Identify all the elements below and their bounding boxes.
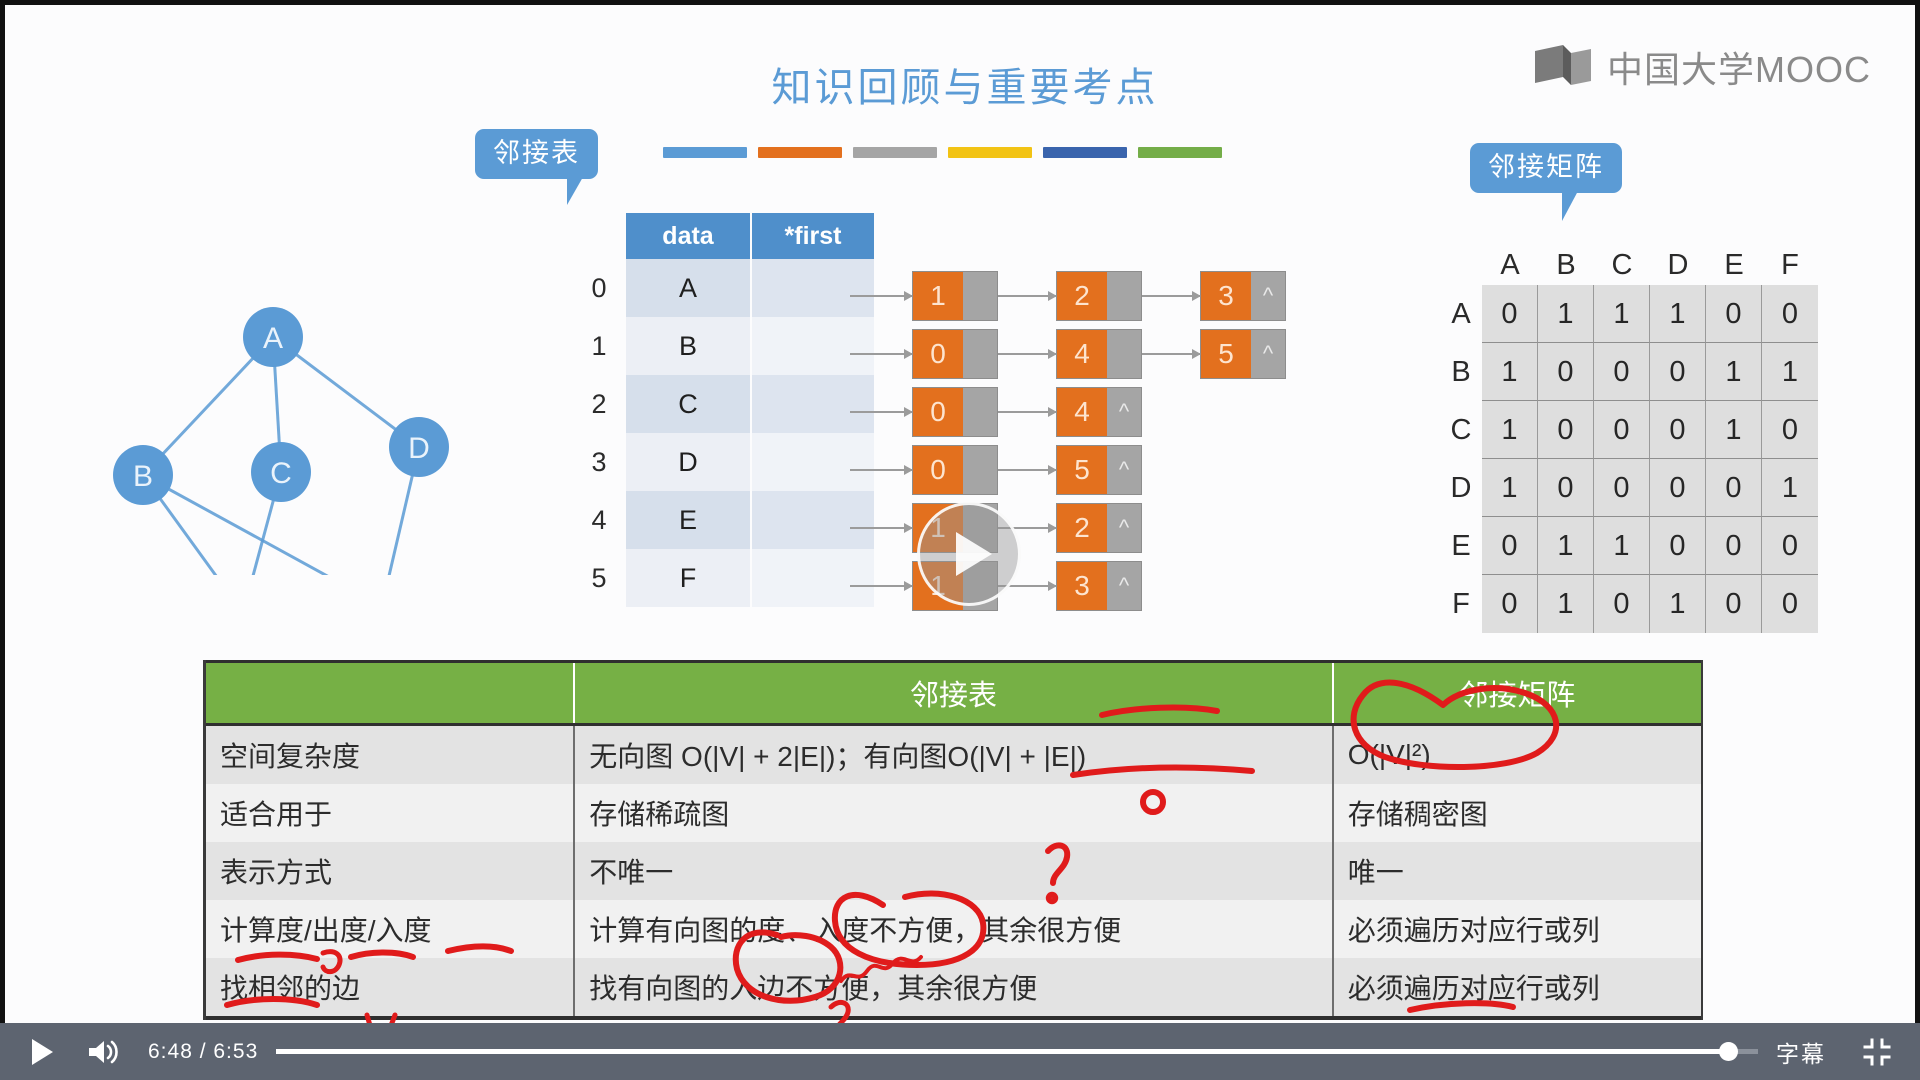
adjacency-list-header: data *first xyxy=(581,213,874,259)
column-header-data: data xyxy=(626,213,750,259)
adjacency-list-row: 1B xyxy=(581,317,874,375)
matrix-cell: 0 xyxy=(1706,285,1762,343)
matrix-cell: 0 xyxy=(1538,343,1594,401)
graph-node-C: C xyxy=(251,442,311,502)
index-spacer xyxy=(581,213,617,259)
video-player-stage: 知识回顾与重要考点 中国大学MOOC 邻接表 邻接矩阵 xyxy=(0,0,1920,1080)
node-value: 2 xyxy=(1057,272,1107,320)
adjacency-list-row: 5F xyxy=(581,549,874,607)
pointer-arrow xyxy=(998,353,1056,355)
graph-node-D: D xyxy=(389,417,449,477)
svg-text:C: C xyxy=(270,457,292,490)
node-next-pointer xyxy=(963,446,997,494)
node-value: 4 xyxy=(1057,388,1107,436)
adjacency-list-row: 0A xyxy=(581,259,874,317)
matrix-cell: 1 xyxy=(1706,401,1762,459)
callout-tail xyxy=(567,177,605,205)
list-node: 4 xyxy=(1056,329,1142,379)
pointer-arrow xyxy=(850,527,912,529)
pointer-arrow xyxy=(850,469,912,471)
node-next-pointer: ^ xyxy=(1251,330,1285,378)
list-node: 5 ^ xyxy=(1056,445,1142,495)
node-next-pointer xyxy=(1107,272,1141,320)
node-value: 5 xyxy=(1201,330,1251,378)
title-color-bar-5 xyxy=(1043,147,1127,158)
row-data-value: B xyxy=(626,317,750,375)
matrix-cell: 1 xyxy=(1706,343,1762,401)
matrix-row-header: F xyxy=(1440,575,1482,633)
node-next-pointer: ^ xyxy=(1107,562,1141,610)
comparison-row-adjacency-list: 计算有向图的度、入度不方便，其余很方便 xyxy=(573,900,1331,958)
linked-list-chain: 0 4 5 ^ xyxy=(850,325,1286,383)
node-next-pointer xyxy=(963,330,997,378)
list-node: 5 ^ xyxy=(1200,329,1286,379)
comparison-row-adjacency-list: 找有向图的入边不方便，其余很方便 xyxy=(573,958,1331,1016)
matrix-cell: 0 xyxy=(1650,401,1706,459)
comparison-table-header: 邻接表 邻接矩阵 xyxy=(206,660,1701,726)
graph-svg: A B C D E F xyxy=(45,155,485,575)
list-node: 3 ^ xyxy=(1200,271,1286,321)
matrix-row: C100010 xyxy=(1440,401,1818,459)
matrix-row-header: B xyxy=(1440,343,1482,401)
adjacency-list-row: 2C xyxy=(581,375,874,433)
matrix-cell: 0 xyxy=(1594,459,1650,517)
list-node: 2 ^ xyxy=(1056,503,1142,553)
row-data-value: C xyxy=(626,375,750,433)
row-index: 2 xyxy=(581,375,617,433)
matrix-cell: 1 xyxy=(1482,401,1538,459)
row-index: 4 xyxy=(581,491,617,549)
node-next-pointer xyxy=(963,388,997,436)
linked-list-chain: 1 2 3 ^ xyxy=(850,267,1286,325)
graph-node-B: B xyxy=(113,445,173,505)
list-node: 0 xyxy=(912,445,998,495)
comparison-header-adjacency-matrix: 邻接矩阵 xyxy=(1332,663,1701,723)
list-node: 0 xyxy=(912,387,998,437)
volume-icon xyxy=(87,1038,119,1066)
comparison-row-label: 找相邻的边 xyxy=(206,958,573,1016)
matrix-column-header: C xyxy=(1594,245,1650,285)
row-index: 5 xyxy=(581,549,617,607)
title-color-bar-6 xyxy=(1138,147,1222,158)
comparison-row: 适合用于存储稀疏图存储稠密图 xyxy=(206,784,1701,842)
node-next-pointer: ^ xyxy=(1251,272,1285,320)
matrix-column-header: D xyxy=(1650,245,1706,285)
row-data-value: F xyxy=(626,549,750,607)
pointer-arrow xyxy=(998,411,1056,413)
comparison-row-adjacency-list: 存储稀疏图 xyxy=(573,784,1331,842)
seek-bar[interactable] xyxy=(276,1049,1758,1054)
node-value: 3 xyxy=(1201,272,1251,320)
node-value: 3 xyxy=(1057,562,1107,610)
linked-list-chain: 0 4 ^ xyxy=(850,383,1286,441)
matrix-row-cells: 011000 xyxy=(1482,517,1818,575)
pointer-arrow xyxy=(998,295,1056,297)
matrix-cell: 1 xyxy=(1650,285,1706,343)
matrix-cell: 0 xyxy=(1762,517,1818,575)
list-node: 0 xyxy=(912,329,998,379)
matrix-row-header: C xyxy=(1440,401,1482,459)
matrix-cell: 1 xyxy=(1538,285,1594,343)
matrix-cell: 1 xyxy=(1762,459,1818,517)
comparison-row-label: 表示方式 xyxy=(206,842,573,900)
volume-button[interactable] xyxy=(80,1030,126,1074)
play-icon xyxy=(956,532,992,576)
node-value: 0 xyxy=(913,388,963,436)
node-next-pointer: ^ xyxy=(1107,388,1141,436)
comparison-header-blank xyxy=(206,663,573,723)
seek-progress xyxy=(276,1049,1728,1054)
matrix-cell: 0 xyxy=(1706,575,1762,633)
comparison-row-adjacency-list: 不唯一 xyxy=(573,842,1331,900)
pointer-arrow xyxy=(850,411,912,413)
svg-text:A: A xyxy=(263,322,283,355)
graph-diagram: A B C D E F xyxy=(45,155,485,575)
row-index: 3 xyxy=(581,433,617,491)
column-header-first: *first xyxy=(750,213,874,259)
matrix-cell: 0 xyxy=(1650,343,1706,401)
title-color-bar-4 xyxy=(948,147,1032,158)
matrix-cell: 0 xyxy=(1594,401,1650,459)
adjacency-list-row: 4E xyxy=(581,491,874,549)
matrix-row: E011000 xyxy=(1440,517,1818,575)
matrix-column-header: A xyxy=(1482,245,1538,285)
svg-text:B: B xyxy=(133,460,153,493)
node-value: 5 xyxy=(1057,446,1107,494)
matrix-row-cells: 100010 xyxy=(1482,401,1818,459)
matrix-cell: 0 xyxy=(1538,401,1594,459)
matrix-row: F010100 xyxy=(1440,575,1818,633)
matrix-cell: 1 xyxy=(1594,517,1650,575)
adjacency-list-nodes: 1 2 3 ^ 0 4 xyxy=(850,267,1286,615)
callout-adjacency-list-label: 邻接表 xyxy=(493,138,580,168)
adjacency-matrix: ABCDEF A011100B100011C100010D100001E0110… xyxy=(1440,245,1818,633)
time-display: 6:48 / 6:53 xyxy=(148,1040,258,1064)
callout-adjacency-matrix: 邻接矩阵 xyxy=(1470,143,1622,193)
list-node: 3 ^ xyxy=(1056,561,1142,611)
node-value: 2 xyxy=(1057,504,1107,552)
matrix-column-header: E xyxy=(1706,245,1762,285)
node-value: 0 xyxy=(913,446,963,494)
matrix-row-cells: 010100 xyxy=(1482,575,1818,633)
matrix-cell: 0 xyxy=(1482,517,1538,575)
comparison-row: 表示方式不唯一唯一 xyxy=(206,842,1701,900)
matrix-row-cells: 011100 xyxy=(1482,285,1818,343)
overlay-play-button[interactable] xyxy=(917,502,1021,606)
matrix-row: B100011 xyxy=(1440,343,1818,401)
matrix-cell: 0 xyxy=(1482,575,1538,633)
callout-adjacency-list: 邻接表 xyxy=(475,129,598,179)
matrix-cell: 1 xyxy=(1538,517,1594,575)
adjacency-list-row: 3D xyxy=(581,433,874,491)
comparison-row-adjacency-matrix: 必须遍历对应行或列 xyxy=(1332,900,1701,958)
matrix-cell: 0 xyxy=(1762,575,1818,633)
svg-text:D: D xyxy=(408,432,430,465)
list-node: 1 xyxy=(912,271,998,321)
callout-adjacency-matrix-label: 邻接矩阵 xyxy=(1488,152,1604,182)
node-next-pointer xyxy=(963,272,997,320)
row-data-value: E xyxy=(626,491,750,549)
node-next-pointer: ^ xyxy=(1107,504,1141,552)
matrix-cell: 1 xyxy=(1594,285,1650,343)
play-icon xyxy=(29,1037,55,1067)
graph-node-A: A xyxy=(243,307,303,367)
matrix-column-header: F xyxy=(1762,245,1818,285)
matrix-column-headers: ABCDEF xyxy=(1482,245,1818,285)
matrix-cell: 0 xyxy=(1594,343,1650,401)
title-color-bar-2 xyxy=(758,147,842,158)
matrix-cell: 0 xyxy=(1762,285,1818,343)
comparison-row-adjacency-matrix: 唯一 xyxy=(1332,842,1701,900)
matrix-cell: 0 xyxy=(1538,459,1594,517)
play-button[interactable] xyxy=(20,1030,64,1074)
matrix-cell: 0 xyxy=(1762,401,1818,459)
comparison-row-label: 空间复杂度 xyxy=(206,726,573,784)
matrix-cell: 1 xyxy=(1538,575,1594,633)
pointer-arrow xyxy=(850,353,912,355)
matrix-cell: 0 xyxy=(1594,575,1650,633)
linked-list-chain: 0 5 ^ xyxy=(850,441,1286,499)
linked-list-chain: 1 3 ^ xyxy=(850,557,1286,615)
comparison-row-adjacency-matrix: 必须遍历对应行或列 xyxy=(1332,958,1701,1016)
matrix-row-cells: 100001 xyxy=(1482,459,1818,517)
comparison-row-adjacency-matrix: 存储稠密图 xyxy=(1332,784,1701,842)
mooc-logo: 中国大学MOOC xyxy=(1533,41,1871,93)
pointer-arrow xyxy=(850,585,912,587)
comparison-row-adjacency-list: 无向图 O(|V| + 2|E|)；有向图O(|V| + |E|) xyxy=(573,726,1331,784)
linked-list-chain: 1 2 ^ xyxy=(850,499,1286,557)
slide-canvas: 知识回顾与重要考点 中国大学MOOC 邻接表 邻接矩阵 xyxy=(5,5,1915,1023)
matrix-cell: 0 xyxy=(1706,517,1762,575)
node-next-pointer xyxy=(1107,330,1141,378)
row-index: 0 xyxy=(581,259,617,317)
comparison-table-body: 空间复杂度无向图 O(|V| + 2|E|)；有向图O(|V| + |E|)O(… xyxy=(206,726,1701,1016)
matrix-cell: 0 xyxy=(1706,459,1762,517)
row-data-value: A xyxy=(626,259,750,317)
matrix-column-header: B xyxy=(1538,245,1594,285)
title-color-bar-3 xyxy=(853,147,937,158)
comparison-row: 计算度/出度/入度计算有向图的度、入度不方便，其余很方便必须遍历对应行或列 xyxy=(206,900,1701,958)
matrix-row-cells: 100011 xyxy=(1482,343,1818,401)
matrix-cell: 0 xyxy=(1650,517,1706,575)
page-title: 知识回顾与重要考点 xyxy=(645,55,1285,113)
callout-tail xyxy=(1562,191,1604,221)
node-value: 0 xyxy=(913,330,963,378)
matrix-row: A011100 xyxy=(1440,285,1818,343)
comparison-table: 邻接表 邻接矩阵 空间复杂度无向图 O(|V| + 2|E|)；有向图O(|V|… xyxy=(203,660,1703,1020)
adjacency-list-table: data *first 0A1B2C3D4E5F xyxy=(581,213,874,607)
matrix-row-header: E xyxy=(1440,517,1482,575)
row-index: 1 xyxy=(581,317,617,375)
comparison-row-label: 适合用于 xyxy=(206,784,573,842)
comparison-row: 空间复杂度无向图 O(|V| + 2|E|)；有向图O(|V| + |E|)O(… xyxy=(206,726,1701,784)
pointer-arrow xyxy=(850,295,912,297)
book-logo-icon xyxy=(1533,43,1593,91)
comparison-row-label: 计算度/出度/入度 xyxy=(206,900,573,958)
node-value: 4 xyxy=(1057,330,1107,378)
pointer-arrow xyxy=(998,469,1056,471)
mooc-logo-text: 中国大学MOOC xyxy=(1607,41,1871,93)
node-value: 1 xyxy=(913,272,963,320)
list-node: 2 xyxy=(1056,271,1142,321)
pointer-arrow xyxy=(1142,295,1200,297)
comparison-row: 找相邻的边找有向图的入边不方便，其余很方便必须遍历对应行或列 xyxy=(206,958,1701,1016)
seek-handle[interactable] xyxy=(1719,1042,1738,1061)
matrix-cell: 1 xyxy=(1482,343,1538,401)
comparison-row-adjacency-matrix: O(|V|²) xyxy=(1332,726,1701,784)
title-color-bar-1 xyxy=(663,147,747,158)
matrix-cell: 0 xyxy=(1482,285,1538,343)
fullscreen-exit-icon xyxy=(1862,1037,1892,1067)
pointer-arrow xyxy=(1142,353,1200,355)
subtitles-button[interactable]: 字幕 xyxy=(1776,1035,1826,1069)
comparison-header-adjacency-list: 邻接表 xyxy=(573,663,1331,723)
matrix-body: A011100B100011C100010D100001E011000F0101… xyxy=(1440,285,1818,633)
matrix-row-header: D xyxy=(1440,459,1482,517)
matrix-cell: 1 xyxy=(1482,459,1538,517)
matrix-cell: 0 xyxy=(1650,459,1706,517)
matrix-cell: 1 xyxy=(1650,575,1706,633)
player-controls: 6:48 / 6:53 字幕 xyxy=(0,1023,1920,1080)
title-color-bars xyxy=(663,147,1222,158)
row-data-value: D xyxy=(626,433,750,491)
fullscreen-exit-button[interactable] xyxy=(1860,1035,1894,1069)
list-node: 4 ^ xyxy=(1056,387,1142,437)
node-next-pointer: ^ xyxy=(1107,446,1141,494)
adjacency-list-body: 0A1B2C3D4E5F xyxy=(581,259,874,607)
matrix-row-header: A xyxy=(1440,285,1482,343)
matrix-row: D100001 xyxy=(1440,459,1818,517)
matrix-cell: 1 xyxy=(1762,343,1818,401)
